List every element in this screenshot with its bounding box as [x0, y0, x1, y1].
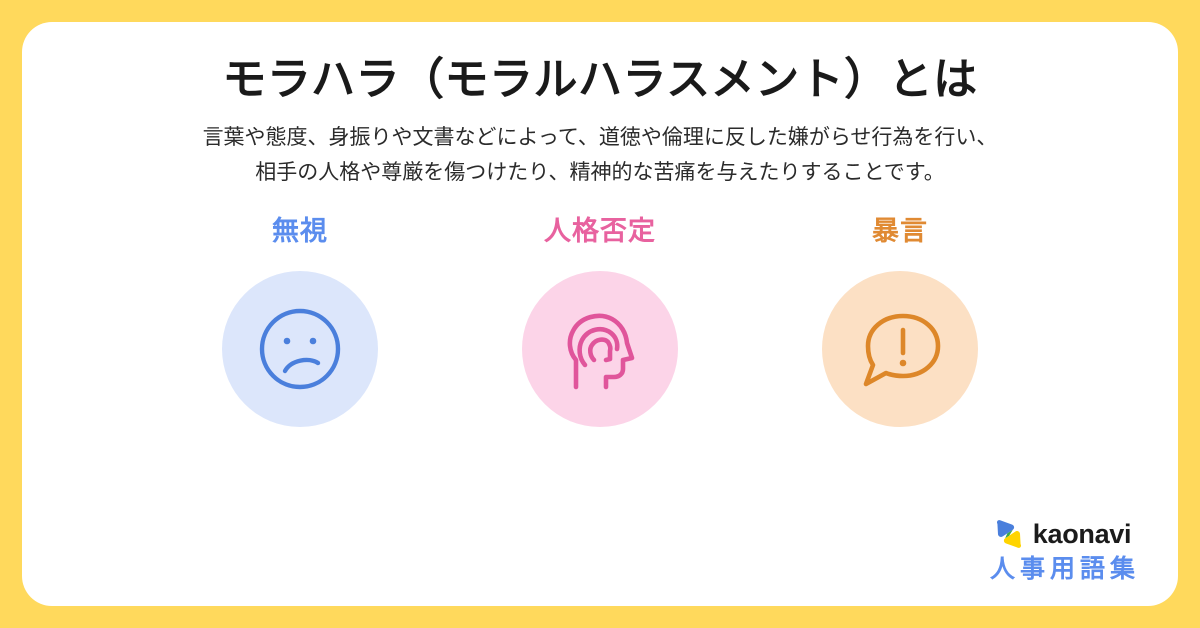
- icon-badge: [522, 271, 678, 427]
- heading-block: モラハラ（モラルハラスメント）とは 言葉や態度、身振りや文書などによって、道徳や…: [22, 52, 1178, 190]
- concept-item-label: 無視: [272, 218, 328, 245]
- poster-frame: モラハラ（モラルハラスメント）とは 言葉や態度、身振りや文書などによって、道徳や…: [0, 0, 1200, 628]
- page-title: モラハラ（モラルハラスメント）とは: [22, 52, 1178, 107]
- concept-item-label: 人格否定: [544, 218, 656, 245]
- kaonavi-logo-icon: [994, 520, 1024, 548]
- concept-item-ignore: 無視: [212, 218, 389, 427]
- concept-item-verbal-abuse: 暴言: [812, 218, 989, 427]
- brand-lockup: kaonavi: [994, 520, 1131, 548]
- concept-item-list: 無視 人格否定: [22, 218, 1178, 427]
- description-line-2: 相手の人格や尊厳を傷つけたり、精神的な苦痛を与えたりすることです。: [22, 156, 1178, 191]
- page-description: 言葉や態度、身振りや文書などによって、道徳や倫理に反した嫌がらせ行為を行い、 相…: [22, 121, 1178, 190]
- sad-face-icon: [254, 303, 346, 395]
- brand-name: kaonavi: [1033, 521, 1131, 548]
- brand-footer: kaonavi 人事用語集: [985, 520, 1140, 582]
- icon-badge: [822, 271, 978, 427]
- concept-item-personality-denial: 人格否定: [512, 218, 689, 427]
- description-line-1: 言葉や態度、身振りや文書などによって、道徳や倫理に反した嫌がらせ行為を行い、: [22, 121, 1178, 156]
- content-card: モラハラ（モラルハラスメント）とは 言葉や態度、身振りや文書などによって、道徳や…: [22, 22, 1178, 606]
- speech-bubble-exclamation-icon: [854, 303, 946, 395]
- concept-item-label: 暴言: [872, 218, 928, 245]
- brand-subtitle: 人事用語集: [985, 557, 1140, 582]
- head-mind-icon: [554, 303, 646, 395]
- icon-badge: [222, 271, 378, 427]
